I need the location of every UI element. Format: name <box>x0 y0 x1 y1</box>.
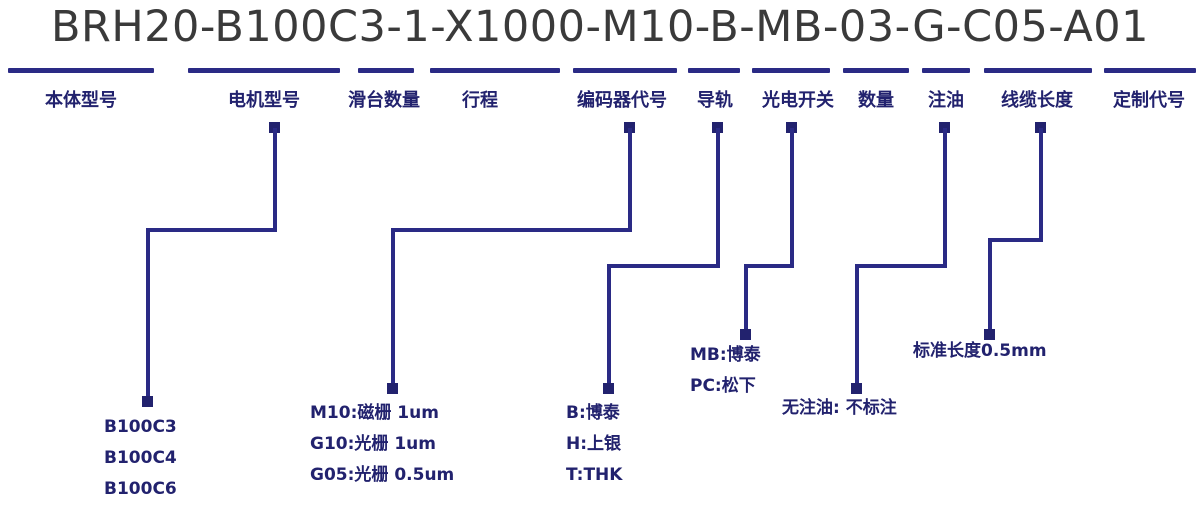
leader-segment-guide-rail-h <box>607 264 720 268</box>
option-encoder-code-1: M10:磁栅 1um <box>310 398 454 429</box>
leader-segment-cable-length-v1 <box>1039 128 1043 242</box>
option-body-model-3: B100C6 <box>104 474 177 505</box>
segment-rule-slide-count <box>358 68 414 73</box>
leader-segment-encoder-code-h <box>391 228 632 232</box>
option-encoder-code-3: G05:光栅 0.5um <box>310 460 454 491</box>
option-encoder-code-2: G10:光栅 1um <box>310 429 454 460</box>
leader-segment-cable-length-v2 <box>988 238 992 334</box>
segment-label-motor-model: 电机型号 <box>214 86 314 112</box>
segment-label-body-model: 本体型号 <box>31 86 131 112</box>
option-cable-length-1: 标准长度0.5mm <box>913 336 1047 367</box>
leader-segment-photo-switch-v1 <box>790 128 794 268</box>
option-guide-rail-2: H:上银 <box>566 429 622 460</box>
option-body-model-2: B100C4 <box>104 443 177 474</box>
segment-rule-motor-model <box>188 68 340 73</box>
leader-segment-cable-length-h <box>988 238 1043 242</box>
segment-rule-cable-length <box>984 68 1092 73</box>
leader-segment-body-model-v1 <box>273 128 277 231</box>
leader-segment-lubrication-h <box>855 264 947 268</box>
leader-end-cap-guide-rail <box>603 383 614 394</box>
segment-label-custom-code: 定制代号 <box>1098 86 1200 112</box>
segment-label-stroke: 行程 <box>450 86 510 112</box>
leader-segment-lubrication-v2 <box>855 264 859 388</box>
leader-segment-guide-rail-v1 <box>716 128 720 268</box>
segment-rule-photo-switch <box>752 68 830 73</box>
leader-segment-guide-rail-v2 <box>607 264 611 388</box>
option-guide-rail-1: B:博泰 <box>566 398 622 429</box>
options-photo-switch: MB:博泰 PC:松下 <box>690 340 761 402</box>
options-body-model: B100C3 B100C4 B100C6 <box>104 412 177 505</box>
leader-segment-body-model-v2 <box>146 228 150 401</box>
leader-segment-photo-switch-h <box>744 264 794 268</box>
segment-rule-lubrication <box>922 68 970 73</box>
segment-rule-guide-rail <box>688 68 740 73</box>
segment-label-encoder-code: 编码器代号 <box>562 86 682 112</box>
segment-rule-quantity <box>843 68 909 73</box>
segment-label-quantity: 数量 <box>846 86 906 112</box>
segment-rule-encoder-code <box>573 68 677 73</box>
leader-end-cap-encoder-code <box>387 383 398 394</box>
option-photo-switch-1: MB:博泰 <box>690 340 761 371</box>
option-body-model-1: B100C3 <box>104 412 177 443</box>
leader-end-cap-photo-switch <box>740 329 751 340</box>
segment-label-lubrication: 注油 <box>916 86 976 112</box>
leader-segment-lubrication-v1 <box>943 128 947 268</box>
segment-rule-body-model <box>8 68 154 73</box>
option-lubrication-1: 无注油: 不标注 <box>782 393 897 424</box>
options-guide-rail: B:博泰 H:上银 T:THK <box>566 398 622 491</box>
leader-segment-body-model-h <box>146 228 277 232</box>
options-cable-length: 标准长度0.5mm <box>913 336 1047 367</box>
options-encoder-code: M10:磁栅 1um G10:光栅 1um G05:光栅 0.5um <box>310 398 454 491</box>
option-photo-switch-2: PC:松下 <box>690 371 761 402</box>
leader-segment-encoder-code-v2 <box>391 228 395 388</box>
leader-segment-encoder-code-v1 <box>628 128 632 231</box>
segment-rule-stroke <box>430 68 560 73</box>
model-code-headline: BRH20-B100C3-1-X1000-M10-B-MB-03-G-C05-A… <box>0 2 1200 52</box>
model-number-breakdown-diagram: BRH20-B100C3-1-X1000-M10-B-MB-03-G-C05-A… <box>0 0 1200 507</box>
option-guide-rail-3: T:THK <box>566 460 622 491</box>
segment-label-photo-switch: 光电开关 <box>748 86 848 112</box>
options-lubrication: 无注油: 不标注 <box>782 393 897 424</box>
leader-end-cap-body-model <box>142 396 153 407</box>
leader-segment-photo-switch-v2 <box>744 264 748 334</box>
segment-label-slide-count: 滑台数量 <box>334 86 434 112</box>
segment-label-cable-length: 线缆长度 <box>986 86 1088 112</box>
segment-rule-custom-code <box>1104 68 1196 73</box>
segment-label-guide-rail: 导轨 <box>686 86 744 112</box>
